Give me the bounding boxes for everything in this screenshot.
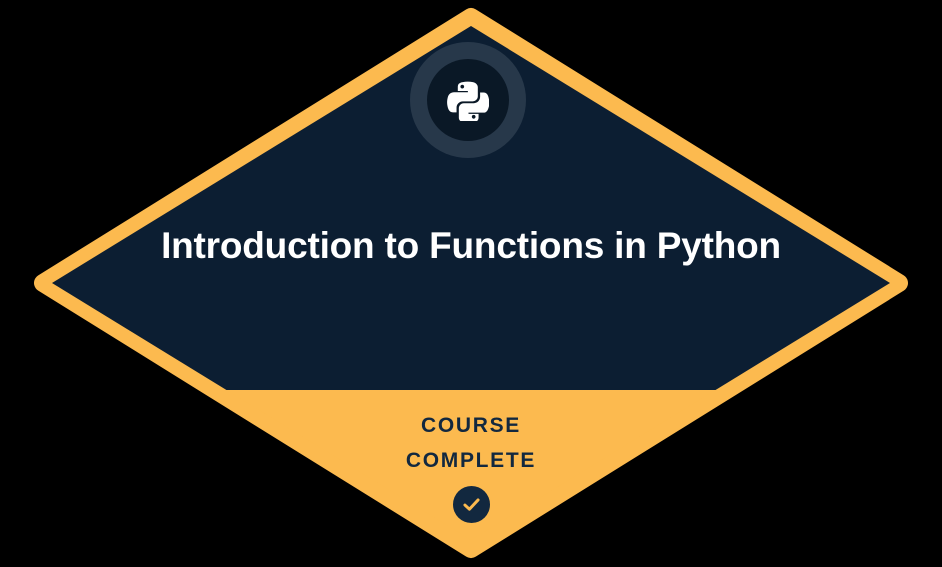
python-logo-icon bbox=[447, 79, 489, 121]
check-mark-icon bbox=[461, 494, 482, 515]
course-title-text: Introduction to Functions in Python bbox=[161, 225, 781, 266]
course-completion-badge: Introduction to Functions in Python COUR… bbox=[0, 0, 942, 567]
status-line-course: COURSE bbox=[171, 408, 771, 443]
status-line-complete: COMPLETE bbox=[171, 443, 771, 478]
check-circle-icon bbox=[453, 486, 490, 523]
course-title: Introduction to Functions in Python bbox=[121, 222, 821, 269]
completion-status: COURSE COMPLETE bbox=[171, 408, 771, 523]
